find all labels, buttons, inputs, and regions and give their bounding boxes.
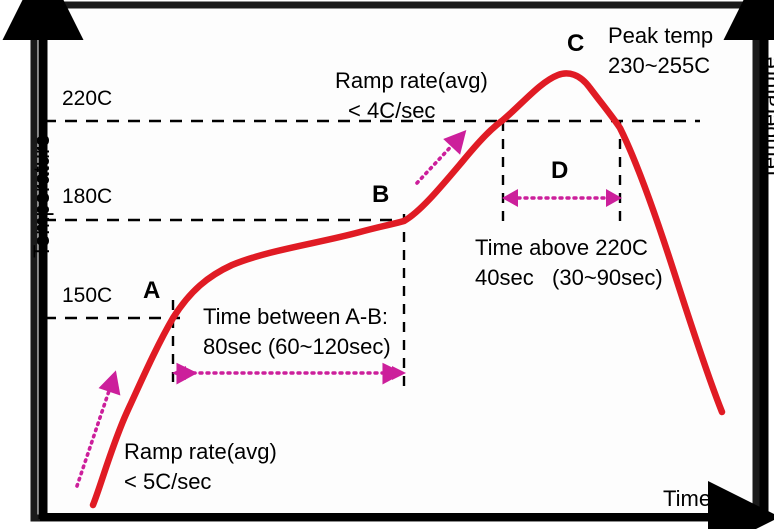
annotation-ramp-high-line1: Ramp rate(avg) xyxy=(335,69,488,94)
annotation-above220-line1: Time above 220C xyxy=(475,236,648,261)
x-axis-title: Time xyxy=(663,487,711,512)
y-axis-right-title: Temperature xyxy=(758,56,774,180)
annotation-time-ab-line1: Time between A-B: xyxy=(203,305,388,330)
annotation-ramp-low-line1: Ramp rate(avg) xyxy=(124,440,277,465)
annotation-ramp-high-line2: < 4C/sec xyxy=(348,99,435,124)
annotation-peak-line2: 230~255C xyxy=(608,54,710,79)
y-tick-label-180c: 180C xyxy=(62,185,112,209)
y-tick-label-220c: 220C xyxy=(62,87,112,111)
annotation-time-ab-line2: 80sec (60~120sec) xyxy=(203,335,391,360)
annotation-peak-line1: Peak temp xyxy=(608,24,713,49)
marker-label-a: A xyxy=(143,278,160,305)
marker-label-d: D xyxy=(551,158,568,185)
marker-label-b: B xyxy=(372,182,389,209)
y-axis-left-title: Temperature xyxy=(30,134,55,258)
marker-label-c: C xyxy=(567,31,584,58)
annotation-ramp-low-line2: < 5C/sec xyxy=(124,470,211,495)
reflow-profile-chart: Temperature Temperature Time 220C 180C 1… xyxy=(0,0,774,529)
y-tick-label-150c: 150C xyxy=(62,284,112,308)
annotation-above220-line2: 40sec (30~90sec) xyxy=(475,266,663,291)
